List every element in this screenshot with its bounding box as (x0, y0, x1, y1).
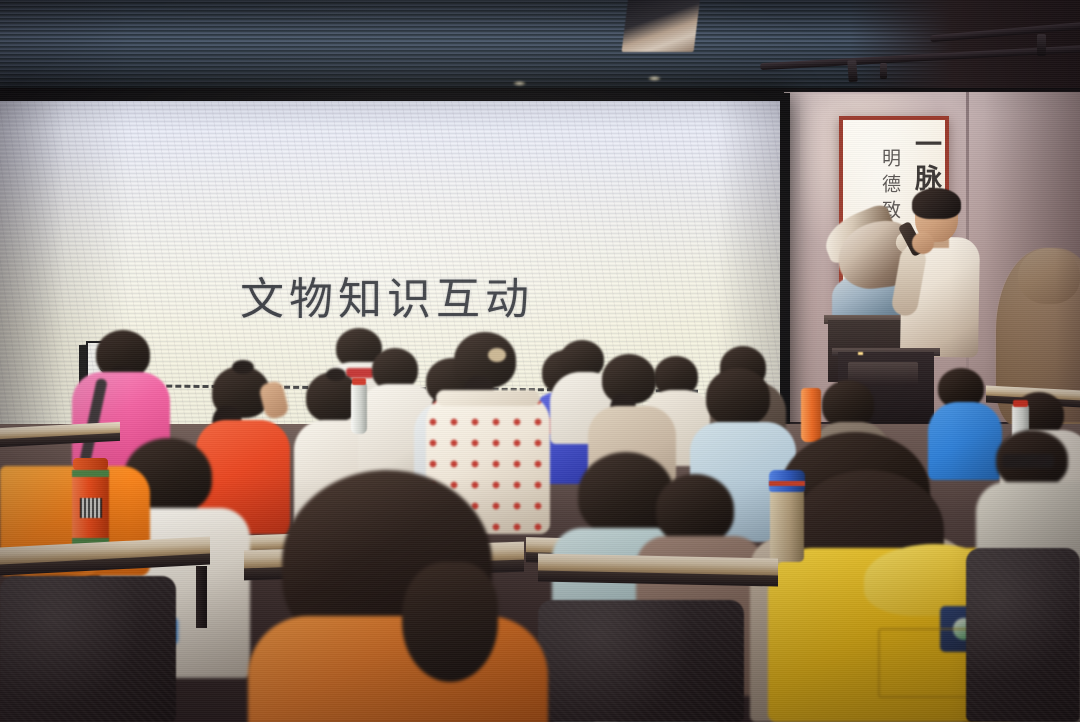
hair (822, 380, 874, 428)
bottle-cap-icon (352, 378, 366, 385)
bottle-label-barcode (80, 498, 102, 518)
table-leg (196, 566, 207, 628)
red-scarf (346, 368, 374, 378)
bottle-cap-icon (73, 458, 108, 470)
wall-shadow (984, 92, 1080, 422)
hair-bun (326, 368, 346, 381)
track-light-head-icon (880, 63, 887, 79)
mesh-office-chair[interactable] (0, 576, 176, 722)
bottle-stripe (769, 481, 805, 486)
museum-lecture-scene: 一脉相承 明德致远 文物知识互动 (0, 0, 1080, 722)
track-light-head-icon (1037, 34, 1046, 56)
dress-collar (436, 390, 540, 406)
hair (706, 368, 770, 426)
track-light-head-icon (847, 60, 858, 83)
status-led-icon (858, 352, 863, 355)
bottle-cap-icon (1013, 400, 1028, 407)
mesh-office-chair[interactable] (538, 600, 744, 722)
hair-side (402, 562, 498, 682)
orange-bottle (801, 388, 821, 442)
hair-bun (232, 360, 254, 374)
hair-clip-icon (488, 348, 506, 362)
presenter-hand (912, 232, 934, 254)
hair (656, 474, 734, 544)
glasses-icon (1002, 454, 1054, 468)
clear-water-bottle (351, 382, 367, 434)
ceiling-vent-icon (622, 0, 701, 52)
tan-water-bottle (770, 488, 804, 562)
presenter-hair (912, 188, 961, 219)
mesh-office-chair[interactable] (966, 548, 1080, 722)
bottle-band (72, 470, 109, 477)
orange-top-torso (248, 616, 548, 722)
blue-tee-torso (928, 402, 1002, 480)
ceiling-spotlight-icon (648, 76, 661, 81)
ceiling-spotlight-icon (513, 81, 526, 86)
